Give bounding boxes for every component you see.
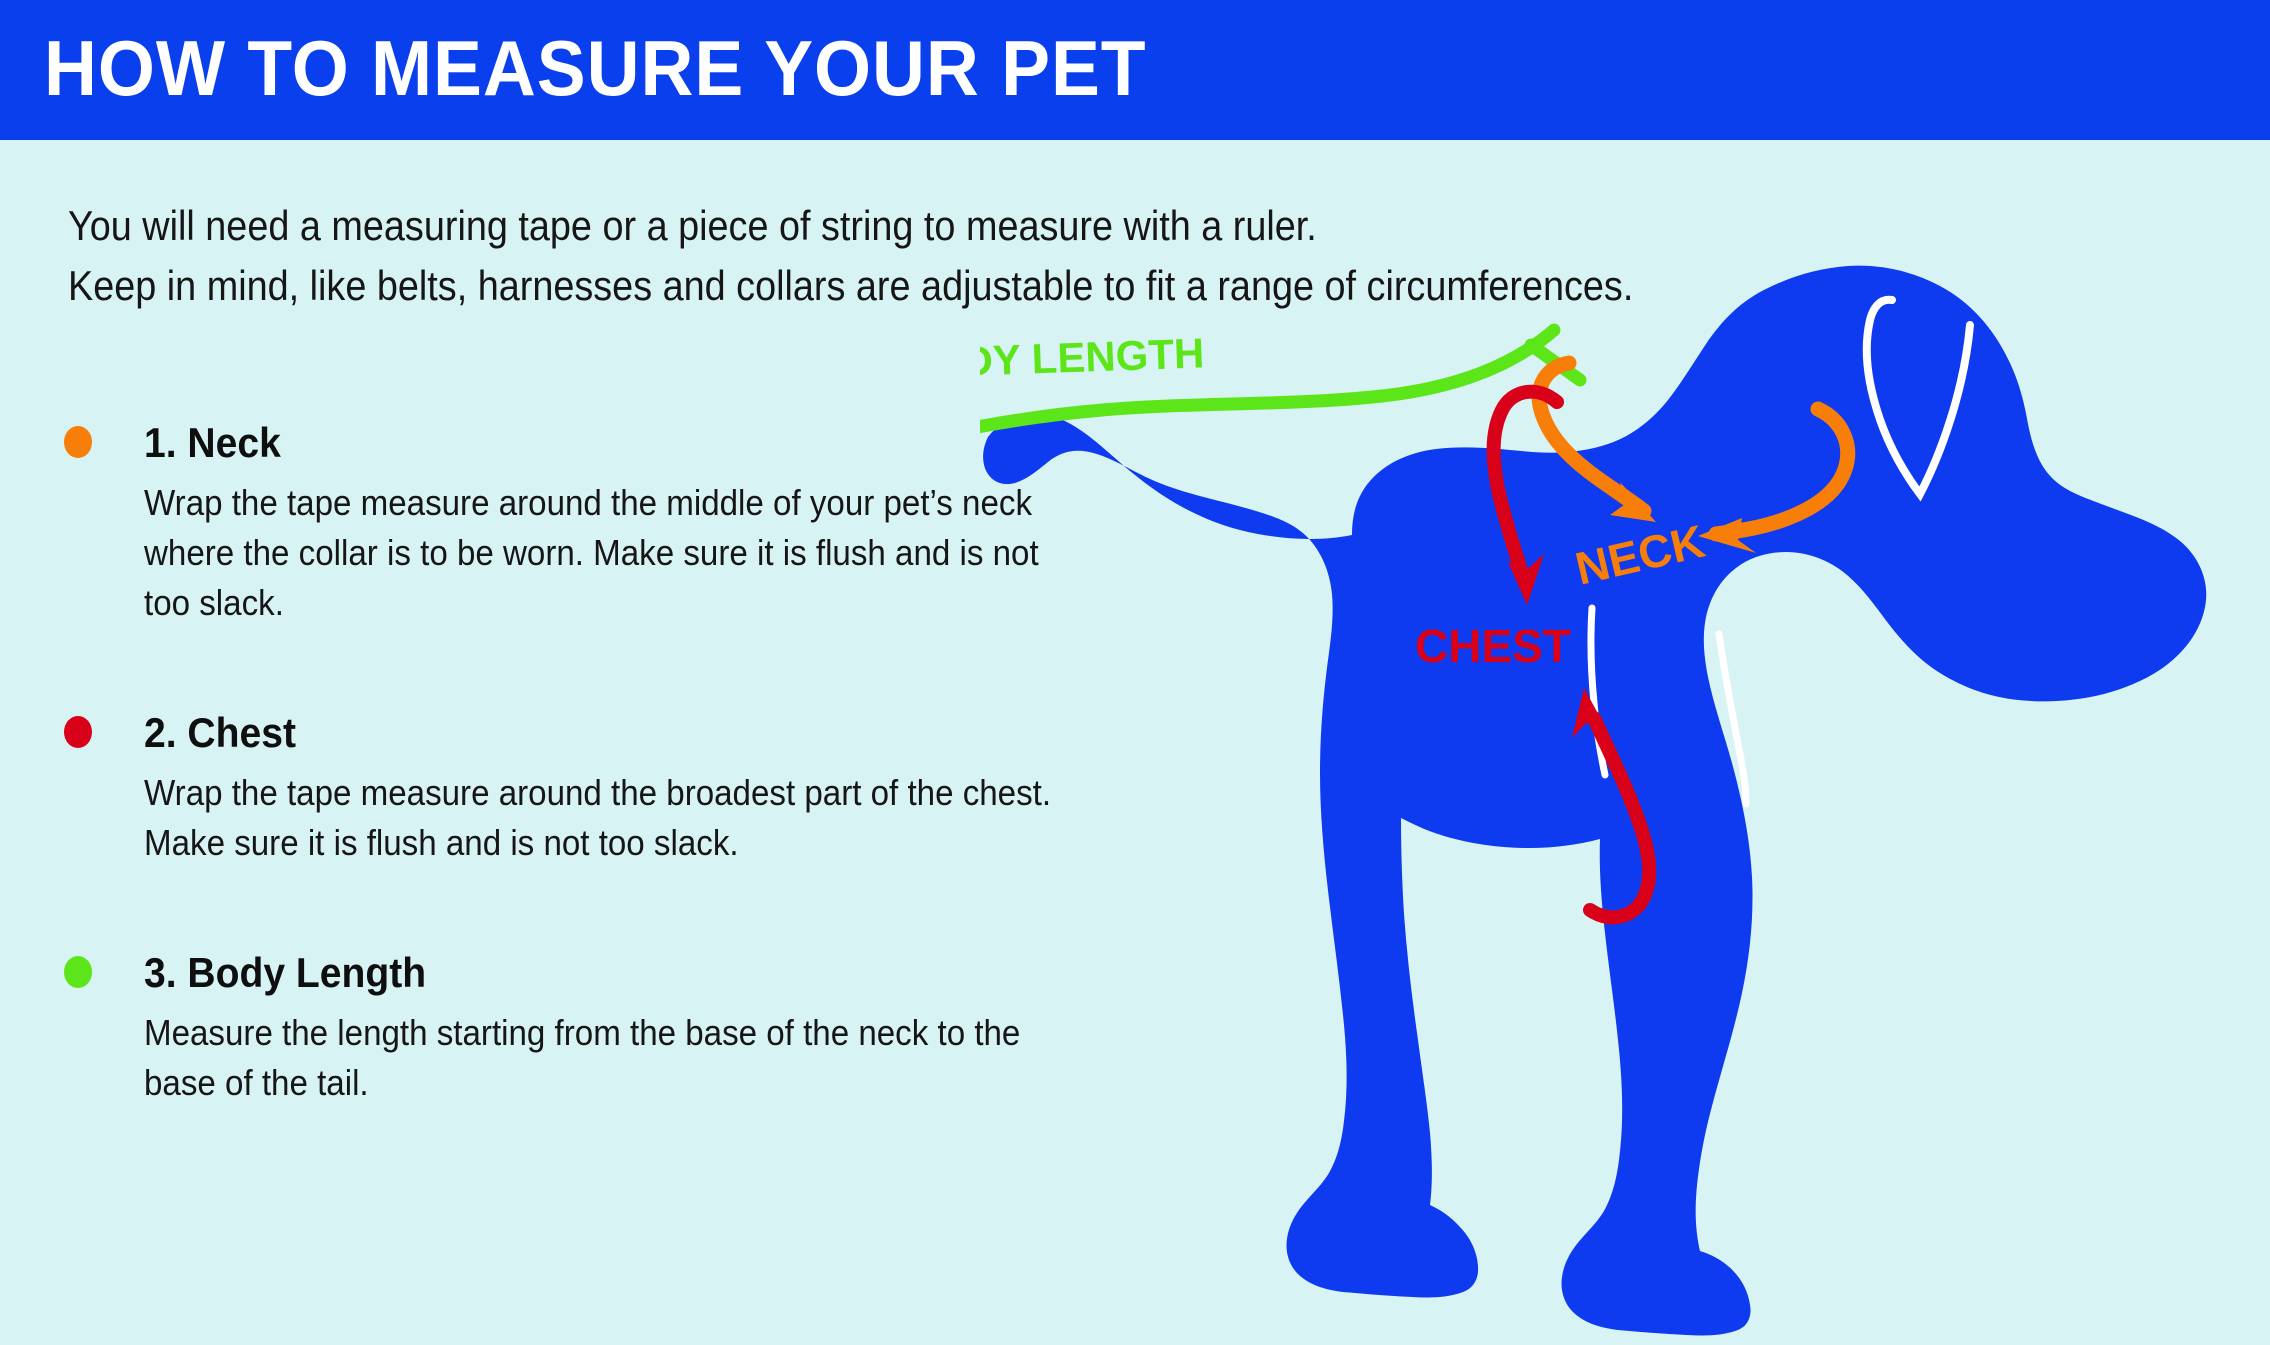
bullet-dot-body-length-icon (64, 956, 92, 988)
step-description-neck: Wrap the tape measure around the middle … (144, 478, 1068, 628)
dog-silhouette-icon (983, 266, 2206, 1336)
step-item-body-length: 3. Body Length Measure the length starti… (64, 948, 1074, 1108)
step-title-neck: 1. Neck (144, 418, 1009, 468)
step-item-chest: 2. Chest Wrap the tape measure around th… (64, 708, 1074, 868)
header-band: HOW TO MEASURE YOUR PET (0, 0, 2270, 140)
body-length-label: BODY LENGTH (980, 329, 1205, 387)
dog-measurement-diagram: BODY LENGTH NECK CHEST (980, 230, 2270, 1345)
step-description-body-length: Measure the length starting from the bas… (144, 1008, 1068, 1108)
step-title-chest: 2. Chest (144, 708, 1009, 758)
bullet-dot-neck-icon (64, 426, 92, 458)
bullet-dot-chest-icon (64, 716, 92, 748)
step-description-chest: Wrap the tape measure around the broades… (144, 768, 1068, 868)
step-item-neck: 1. Neck Wrap the tape measure around the… (64, 418, 1074, 628)
step-title-body-length: 3. Body Length (144, 948, 1009, 998)
measurement-steps-list: 1. Neck Wrap the tape measure around the… (64, 418, 1074, 1188)
chest-label: CHEST (1415, 620, 1571, 672)
page-title: HOW TO MEASURE YOUR PET (44, 18, 1147, 118)
